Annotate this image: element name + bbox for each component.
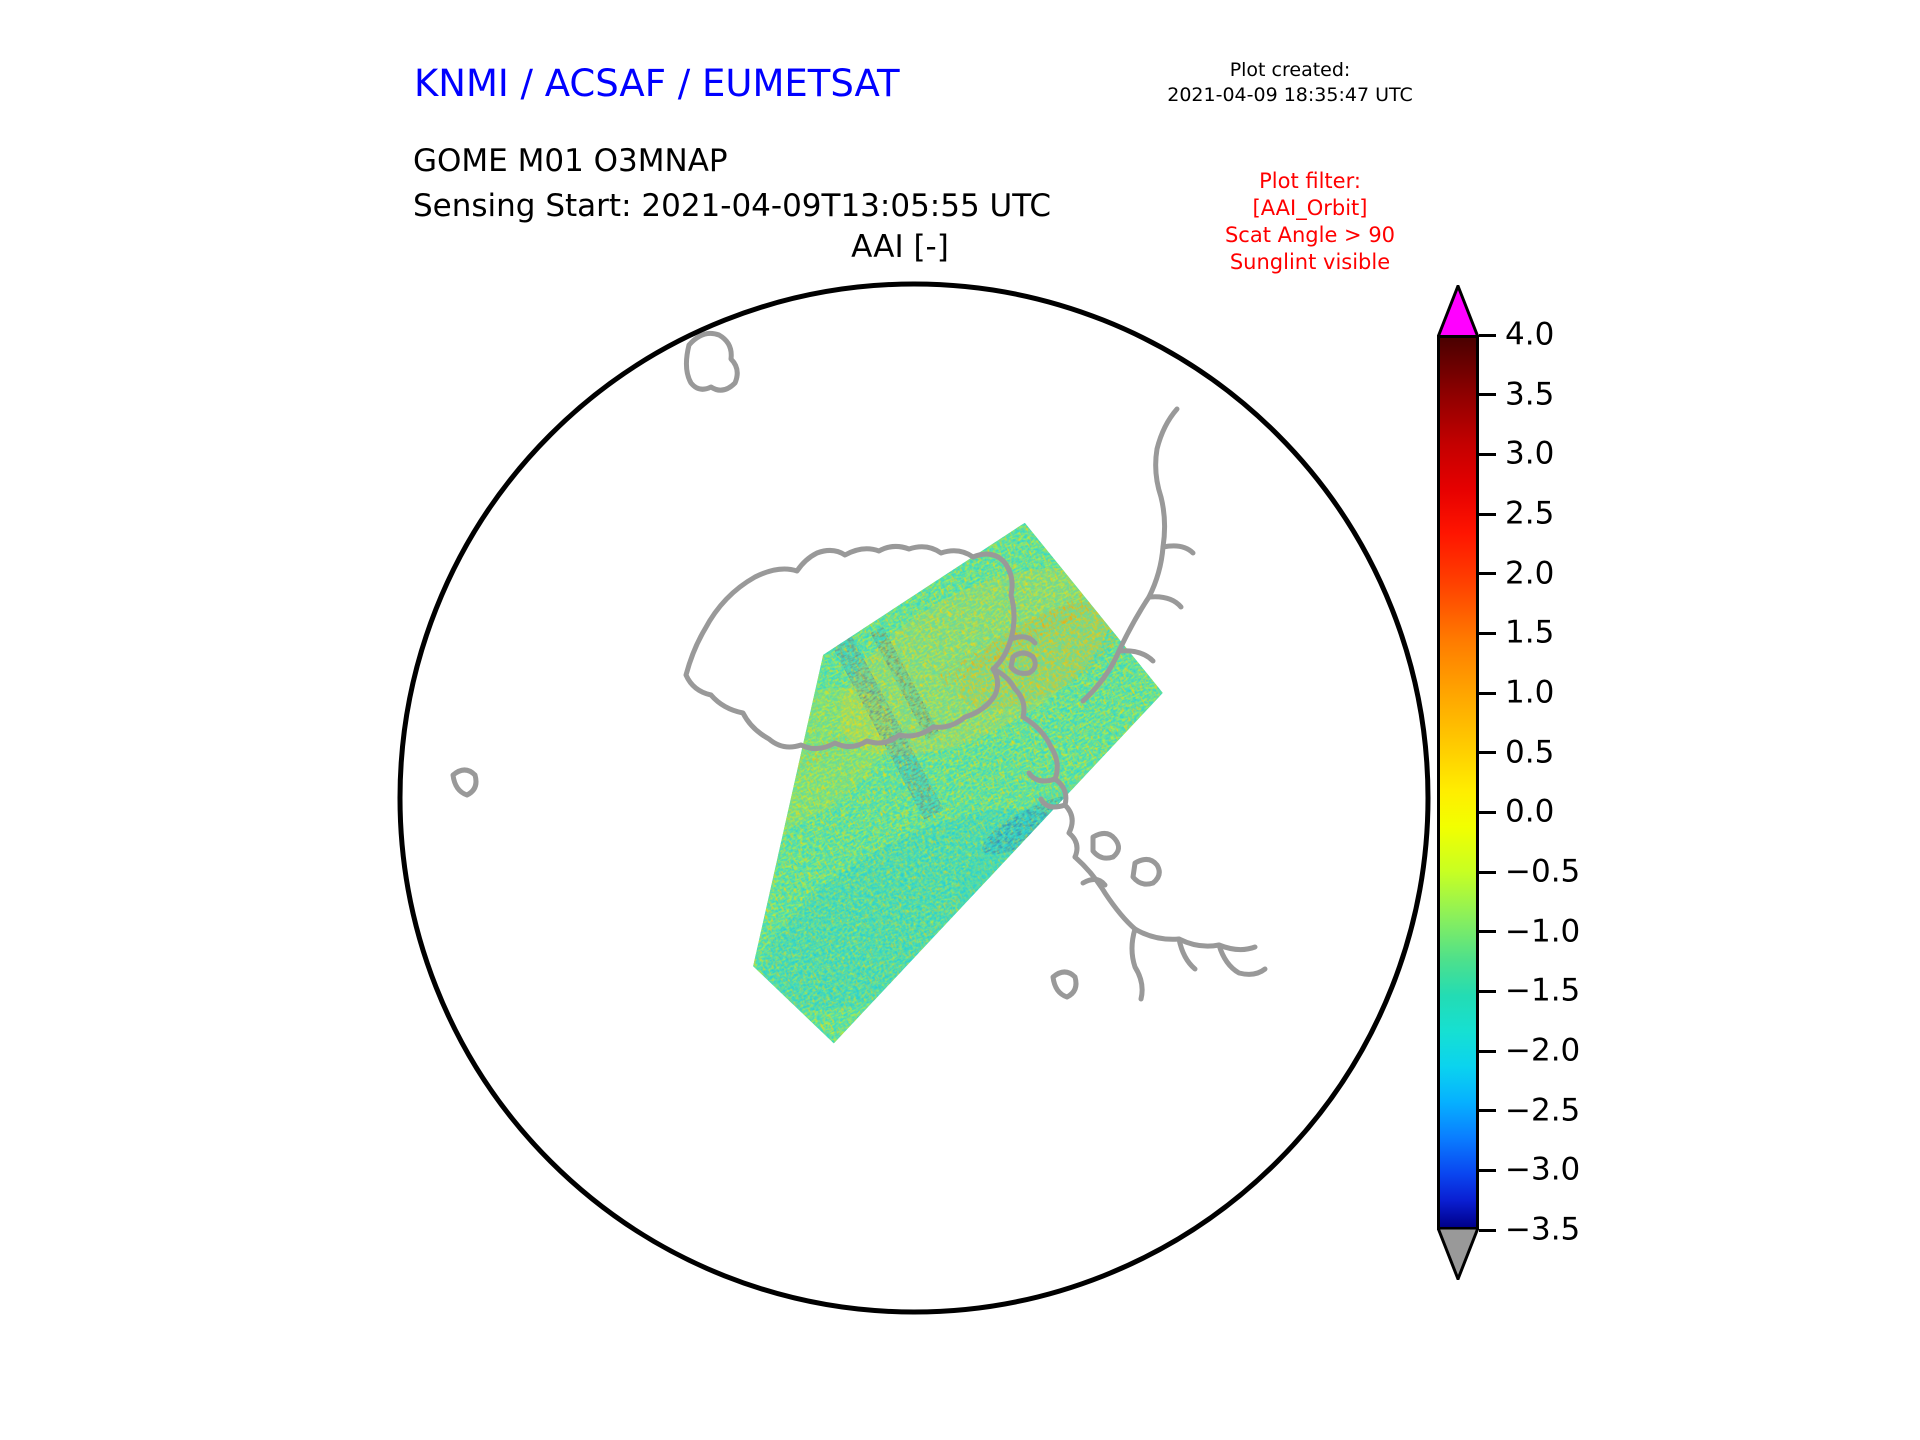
- colorbar-tick-label: −3.5: [1505, 1215, 1580, 1246]
- colorbar-tick-label: 2.0: [1505, 558, 1554, 589]
- colorbar-tick-mark: [1479, 334, 1496, 337]
- colorbar-tick-mark: [1479, 632, 1496, 635]
- colorbar-tick-mark: [1479, 453, 1496, 456]
- colorbar-tick-mark: [1479, 1229, 1496, 1232]
- colorbar-tick-label: −3.0: [1505, 1155, 1580, 1186]
- quantity-title: AAI [-]: [760, 229, 1040, 265]
- colorbar-tick-label: −1.0: [1505, 916, 1580, 947]
- colorbar-tick-mark: [1479, 692, 1496, 695]
- colorbar: 4.03.53.02.52.01.51.00.50.0−0.5−1.0−1.5−…: [1437, 285, 1479, 1280]
- colorbar-gradient: [1437, 335, 1479, 1230]
- sensing-start-line: Sensing Start: 2021-04-09T13:05:55 UTC: [413, 184, 1051, 229]
- plot-created-timestamp: 2021-04-09 18:35:47 UTC: [1140, 83, 1440, 108]
- colorbar-under-arrow: [1437, 1227, 1479, 1280]
- colorbar-tick-mark: [1479, 1109, 1496, 1112]
- colorbar-tick-mark: [1479, 1169, 1496, 1172]
- colorbar-tick-label: 4.0: [1505, 320, 1554, 351]
- colorbar-tick-mark: [1479, 811, 1496, 814]
- colorbar-tick-mark: [1479, 871, 1496, 874]
- colorbar-tick-mark: [1479, 930, 1496, 933]
- colorbar-over-arrow: [1437, 285, 1479, 338]
- colorbar-tick-label: 3.5: [1505, 379, 1554, 410]
- plot-filter-title: Plot filter:: [1180, 168, 1440, 195]
- colorbar-tick-label: 0.5: [1505, 737, 1554, 768]
- colorbar-tick-mark: [1479, 990, 1496, 993]
- plot-filter-line-2: Scat Angle > 90: [1180, 222, 1440, 249]
- polar-map: [393, 277, 1436, 1320]
- colorbar-tick-mark: [1479, 513, 1496, 516]
- colorbar-tick-label: 1.5: [1505, 618, 1554, 649]
- map-canvas: [393, 277, 1436, 1320]
- colorbar-tick-label: 3.0: [1505, 439, 1554, 470]
- colorbar-tick-label: −2.5: [1505, 1095, 1580, 1126]
- organisation-title: KNMI / ACSAF / EUMETSAT: [414, 62, 900, 105]
- colorbar-tick-mark: [1479, 1050, 1496, 1053]
- colorbar-tick-label: −2.0: [1505, 1036, 1580, 1067]
- colorbar-tick-label: 1.0: [1505, 678, 1554, 709]
- plot-created-block: Plot created: 2021-04-09 18:35:47 UTC: [1140, 58, 1440, 108]
- plot-filter-line-1: [AAI_Orbit]: [1180, 195, 1440, 222]
- colorbar-tick-label: −1.5: [1505, 976, 1580, 1007]
- colorbar-ticks: 4.03.53.02.52.01.51.00.50.0−0.5−1.0−1.5−…: [1479, 335, 1539, 1230]
- colorbar-tick-label: −0.5: [1505, 857, 1580, 888]
- colorbar-tick-mark: [1479, 572, 1496, 575]
- colorbar-tick-mark: [1479, 393, 1496, 396]
- plot-filter-line-3: Sunglint visible: [1180, 249, 1440, 276]
- plot-filter-block: Plot filter: [AAI_Orbit] Scat Angle > 90…: [1180, 168, 1440, 276]
- plot-created-label: Plot created:: [1140, 58, 1440, 83]
- colorbar-tick-label: 2.5: [1505, 499, 1554, 530]
- instrument-line: GOME M01 O3MNAP: [413, 139, 1051, 184]
- product-title-block: GOME M01 O3MNAP Sensing Start: 2021-04-0…: [413, 139, 1051, 229]
- colorbar-tick-mark: [1479, 751, 1496, 754]
- colorbar-tick-label: 0.0: [1505, 797, 1554, 828]
